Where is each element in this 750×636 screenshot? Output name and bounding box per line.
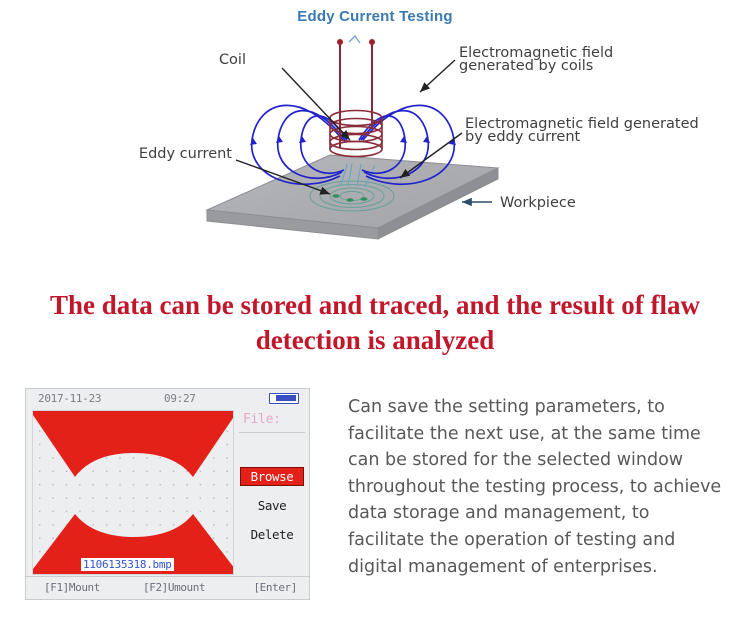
- label-em-field-coils-line2: generated by coils: [459, 58, 593, 74]
- plot-filename: 1106135318.bmp: [81, 558, 174, 571]
- menu-item-delete[interactable]: Delete: [240, 527, 304, 542]
- description-paragraph: Can save the setting parameters, to faci…: [348, 394, 726, 580]
- fkey-f2-umount[interactable]: [F2]Umount: [143, 581, 205, 594]
- plot-waveform: [33, 411, 234, 575]
- waveform-plot: 1106135318.bmp: [32, 410, 234, 575]
- device-screenshot: 2017-11-23 09:27 1106135318.bmp File: Br…: [25, 388, 310, 600]
- label-eddy-current: Eddy current: [139, 146, 232, 162]
- label-coil: Coil: [219, 52, 246, 68]
- diagram-illustration: Coil Electromagnetic field generated by …: [0, 0, 750, 258]
- status-date: 2017-11-23: [38, 392, 101, 405]
- status-time: 09:27: [164, 392, 196, 405]
- battery-icon: [269, 393, 299, 404]
- eddy-current-diagram: Eddy Current Testing: [0, 0, 750, 258]
- workpiece-plate: [207, 155, 498, 239]
- label-workpiece: Workpiece: [500, 195, 576, 211]
- bottom-section: 2017-11-23 09:27 1106135318.bmp File: Br…: [0, 380, 750, 636]
- file-label: File:: [243, 412, 281, 427]
- fkey-f1-mount[interactable]: [F1]Mount: [44, 581, 100, 594]
- headline-line-2: detection is analyzed: [256, 325, 494, 355]
- fkey-enter[interactable]: [Enter]: [253, 581, 297, 594]
- device-side-panel: File: Browse Save Delete: [239, 410, 305, 575]
- device-status-bar: 2017-11-23 09:27: [26, 389, 309, 409]
- headline: The data can be stored and traced, and t…: [25, 288, 725, 358]
- menu-item-browse[interactable]: Browse: [240, 467, 304, 486]
- panel-divider: [239, 432, 305, 433]
- device-bottom-bar: [F1]Mount [F2]Umount [Enter]: [26, 576, 309, 599]
- menu-item-save[interactable]: Save: [240, 498, 304, 513]
- label-em-field-eddy-line2: by eddy current: [465, 129, 581, 145]
- headline-line-1: The data can be stored and traced, and t…: [50, 290, 700, 320]
